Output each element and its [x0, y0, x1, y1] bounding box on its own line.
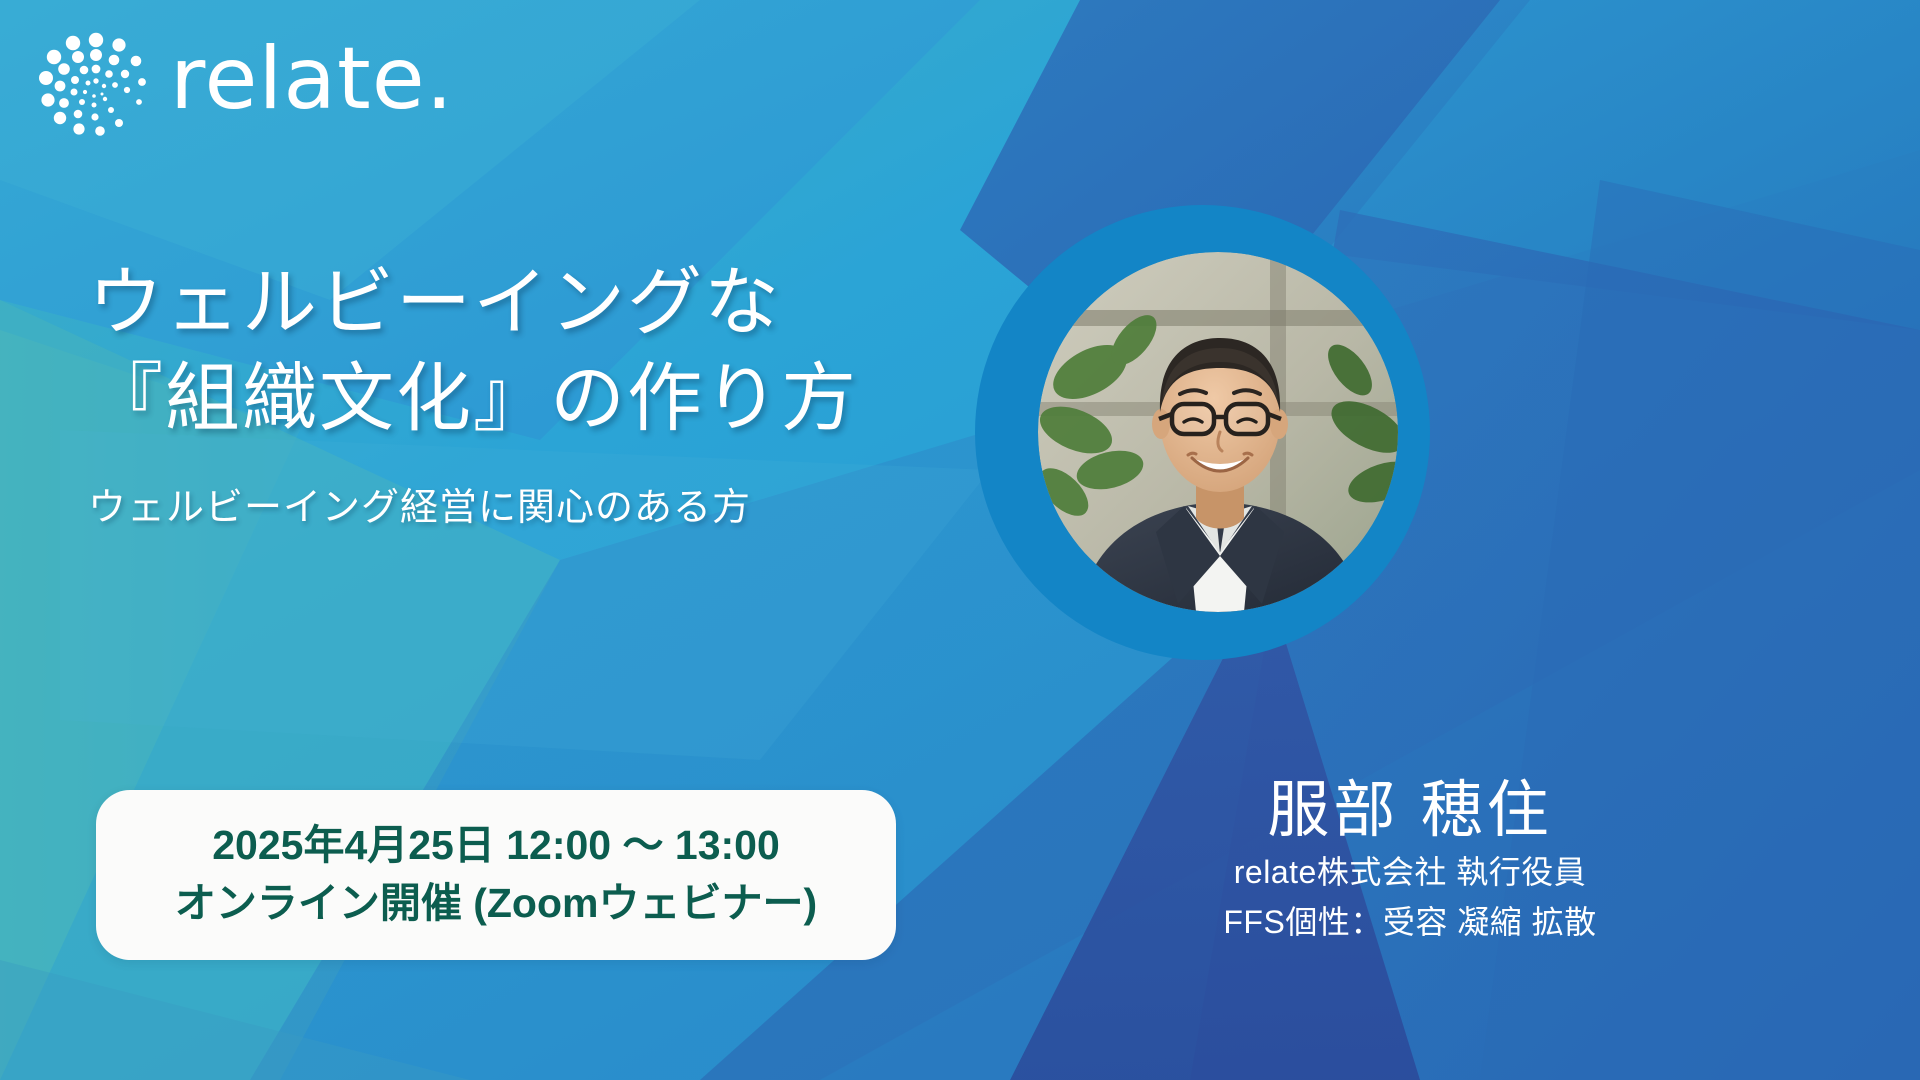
event-info-box: 2025年4月25日 12:00 〜 13:00 オンライン開催 (Zoomウェ… — [96, 790, 896, 960]
speaker-affiliation: relate株式会社 執行役員 — [1010, 850, 1810, 895]
title-line-1: ウェルビーイングな — [88, 254, 1018, 350]
event-datetime: 2025年4月25日 12:00 〜 13:00 — [96, 816, 896, 874]
headline-block: ウェルビーイングな 『組織文化』の作り方 ウェルビーイング経営に関心のある方 — [88, 254, 1018, 531]
event-format: オンライン開催 (Zoomウェビナー) — [96, 874, 896, 932]
brand-wordmark: relate. — [170, 36, 454, 136]
speaker-name: 服部 穂住 — [1010, 775, 1810, 846]
speaker-photo — [1038, 252, 1398, 612]
spiral-dots-logo-icon — [36, 26, 156, 146]
headline-subtitle: ウェルビーイング経営に関心のある方 — [88, 476, 1018, 531]
title-line-2: 『組織文化』の作り方 — [88, 350, 1018, 446]
speaker-traits: FFS個性：受容 凝縮 拡散 — [1010, 900, 1810, 945]
brand-logo[interactable]: relate. — [36, 26, 454, 146]
speaker-info: 服部 穂住 relate株式会社 執行役員 FFS個性：受容 凝縮 拡散 — [1010, 775, 1810, 945]
webinar-banner: relate. ウェルビーイングな 『組織文化』の作り方 ウェルビーイング経営に… — [0, 0, 1920, 1080]
